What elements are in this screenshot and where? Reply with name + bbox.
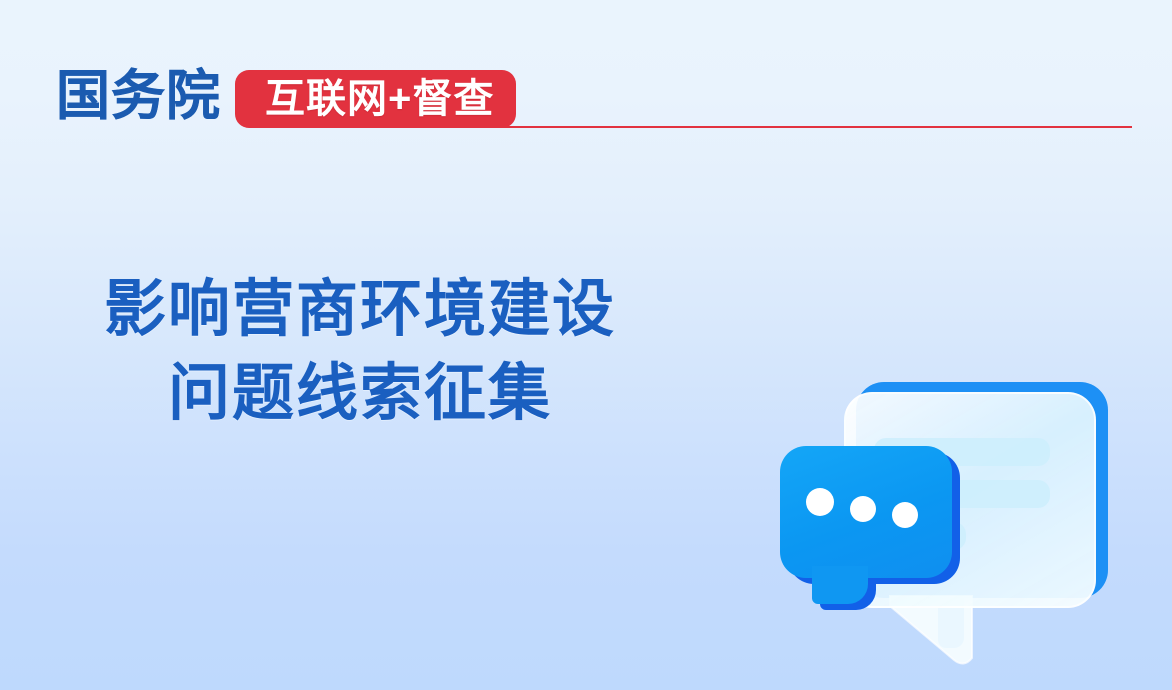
page-title-line-2: 问题线索征集 — [0, 352, 720, 436]
page-title-line-1: 影响营商环境建设 — [0, 268, 720, 352]
header: 国务院 互联网+督查 — [0, 0, 1172, 150]
chat-bubble-tail-icon — [812, 566, 868, 604]
program-badge: 互联网+督查 — [235, 70, 516, 128]
program-badge-label: 互联网+督查 — [265, 77, 494, 121]
banner: 国务院 互联网+督查 影响营商环境建设 问题线索征集 — [0, 0, 1172, 690]
page-title: 影响营商环境建设 问题线索征集 — [0, 268, 720, 436]
chat-bubble-dot-1 — [806, 488, 834, 516]
organization-name: 国务院 — [56, 66, 221, 126]
chat-bubble-dot-2 — [850, 496, 876, 522]
chat-bubble-dot-3 — [892, 502, 918, 528]
header-divider-rule — [500, 126, 1132, 128]
speech-bubbles-illustration — [740, 360, 1140, 680]
